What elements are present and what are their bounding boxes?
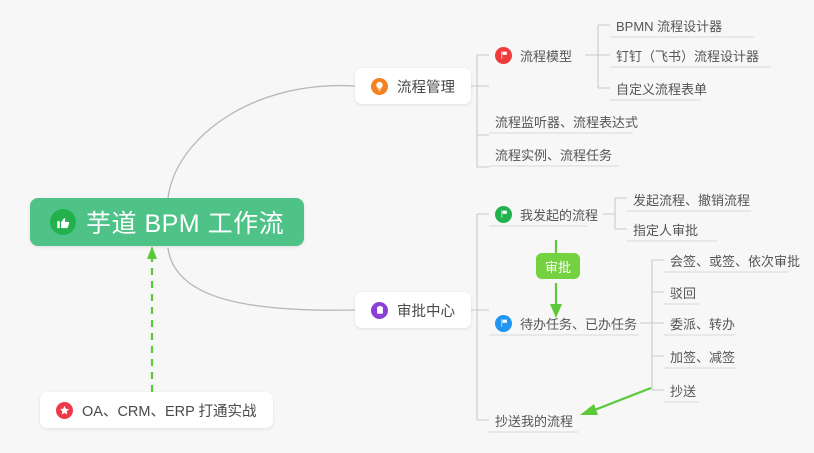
edge-root-to-process-management [168, 86, 355, 198]
leaf-label: 钉钉（飞书）流程设计器 [616, 46, 759, 65]
node-label: 流程实例、流程任务 [495, 145, 612, 164]
leaf-reject[interactable]: 驳回 [664, 278, 702, 306]
branch-label-process-management: 流程管理 [397, 76, 455, 97]
branch-node-approval-center[interactable]: 审批中心 [355, 292, 471, 328]
edge-todo-tasks-spine [640, 260, 664, 390]
node-label: 抄送我的流程 [495, 411, 573, 430]
lightbulb-icon [371, 78, 388, 95]
branch-node-process-management[interactable]: 流程管理 [355, 68, 471, 104]
leaf-cc[interactable]: 抄送 [664, 376, 702, 404]
mindmap-canvas: 芋道 BPM 工作流 OA、CRM、ERP 打通实战 流程管理 [0, 0, 814, 453]
root-label: 芋道 BPM 工作流 [86, 204, 284, 240]
floating-node-label: OA、CRM、ERP 打通实战 [82, 400, 257, 421]
clipboard-icon [371, 302, 388, 319]
leaf-custom-process-form[interactable]: 自定义流程表单 [610, 74, 713, 102]
leaf-countersign-orsign-sequential[interactable]: 会签、或签、依次审批 [664, 246, 806, 274]
leaf-label: 驳回 [670, 283, 696, 302]
flag-green-icon [495, 206, 512, 223]
leaf-label: 抄送 [670, 381, 696, 400]
leaf-label: 加签、减签 [670, 347, 735, 366]
arrow-badge-to-todo [550, 240, 562, 318]
leaf-delegate-transfer[interactable]: 委派、转办 [664, 309, 741, 337]
floating-node-integration[interactable]: OA、CRM、ERP 打通实战 [40, 392, 273, 428]
leaf-label: 会签、或签、依次审批 [670, 251, 800, 270]
leaf-add-remove-sign[interactable]: 加签、减签 [664, 342, 741, 370]
leaf-designated-approver[interactable]: 指定人审批 [627, 215, 704, 243]
node-label: 流程监听器、流程表达式 [495, 112, 638, 131]
leaf-label: BPMN 流程设计器 [616, 16, 722, 35]
flag-red-icon [495, 47, 512, 64]
leaf-start-cancel-process[interactable]: 发起流程、撤销流程 [627, 185, 756, 213]
leaf-label: 指定人审批 [633, 220, 698, 239]
edge-my-processes-spine [603, 198, 627, 229]
arrow-floating-to-root [147, 246, 157, 392]
node-todo-done-tasks[interactable]: 待办任务、已办任务 [489, 309, 643, 337]
node-label-todo-done-tasks: 待办任务、已办任务 [520, 314, 637, 333]
node-cc-my-processes[interactable]: 抄送我的流程 [489, 406, 579, 434]
edge-process-model-spine [585, 25, 610, 88]
leaf-dingtalk-feishu-designer[interactable]: 钉钉（飞书）流程设计器 [610, 41, 765, 69]
leaf-label: 委派、转办 [670, 314, 735, 333]
arrow-cc-to-cc-my-processes [580, 388, 651, 415]
node-process-listener-expression[interactable]: 流程监听器、流程表达式 [489, 107, 644, 135]
badge-approval[interactable]: 审批 [536, 253, 580, 279]
node-label-my-initiated-processes: 我发起的流程 [520, 205, 598, 224]
node-process-instance-task[interactable]: 流程实例、流程任务 [489, 140, 618, 168]
leaf-bpmn-designer[interactable]: BPMN 流程设计器 [610, 11, 728, 39]
thumbs-up-icon [50, 209, 76, 235]
star-icon [56, 402, 73, 419]
branch-label-approval-center: 审批中心 [397, 300, 455, 321]
leaf-label: 自定义流程表单 [616, 79, 707, 98]
leaf-label: 发起流程、撤销流程 [633, 190, 750, 209]
flag-blue-icon [495, 315, 512, 332]
badge-label: 审批 [545, 257, 571, 276]
edge-root-to-approval-center [168, 248, 355, 310]
node-label-process-model: 流程模型 [520, 46, 572, 65]
node-my-initiated-processes[interactable]: 我发起的流程 [489, 200, 604, 228]
node-process-model[interactable]: 流程模型 [489, 41, 578, 69]
root-node[interactable]: 芋道 BPM 工作流 [30, 198, 304, 246]
